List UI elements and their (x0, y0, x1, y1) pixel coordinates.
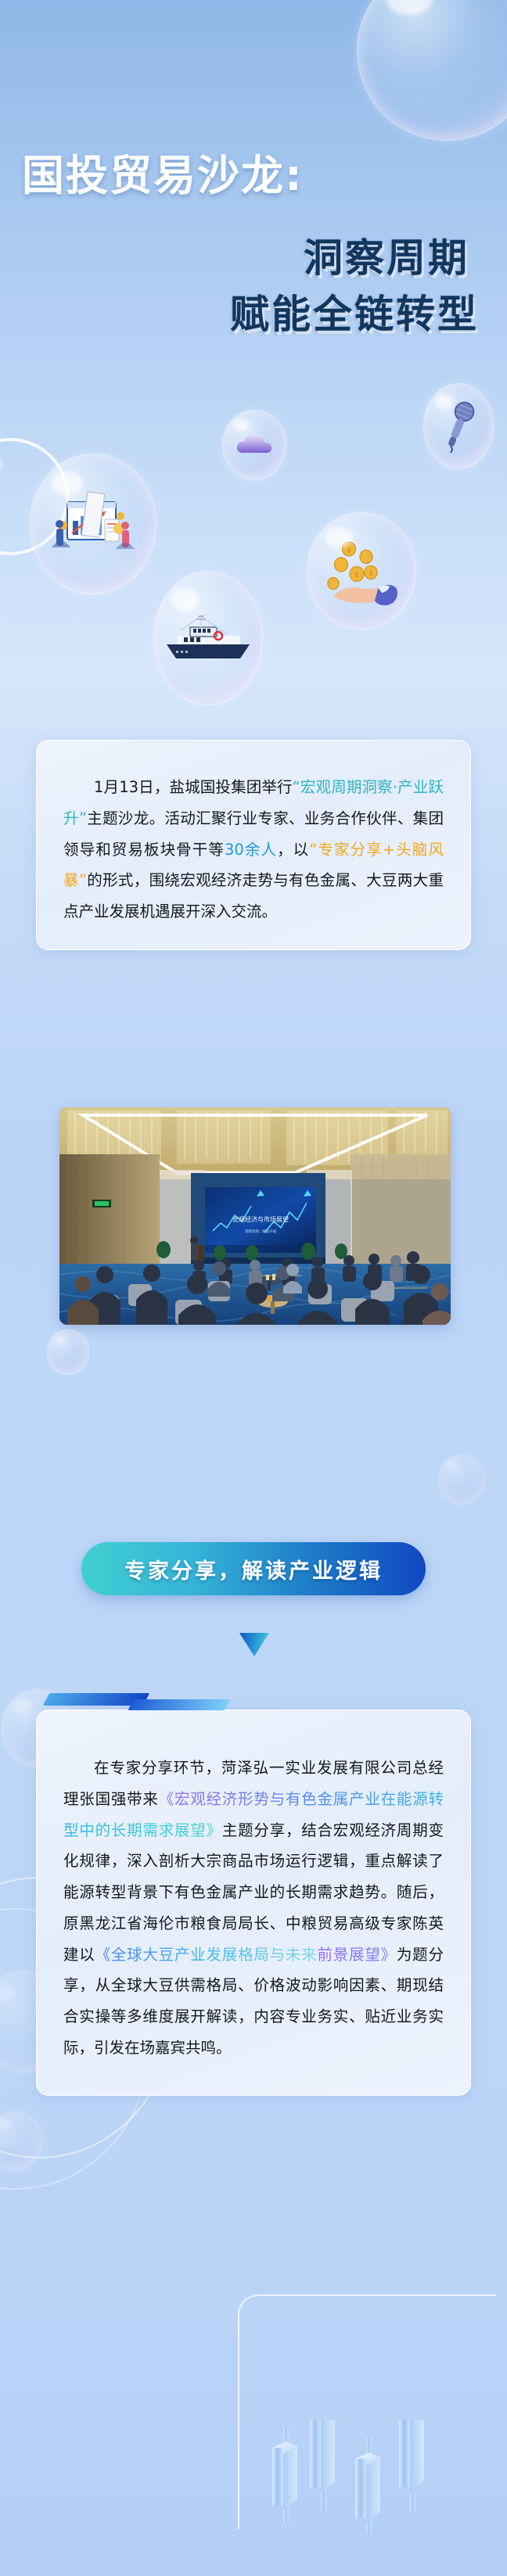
intro-seg-4: ，以 (277, 841, 309, 859)
svg-text:$: $ (369, 570, 373, 578)
poster-page: 国投贸易沙龙: 洞察周期 赋能全链转型 (0, 0, 507, 2576)
section-banner: 专家分享，解读产业逻辑 (81, 1542, 426, 1595)
intro-card: 1月13日，盐城国投集团举行“宏观周期洞察·产业跃升”主题沙龙。活动汇聚行业专家… (36, 740, 471, 950)
intro-paragraph: 1月13日，盐城国投集团举行“宏观周期洞察·产业跃升”主题沙龙。活动汇聚行业专家… (63, 772, 444, 927)
poster-title-line2: 洞察周期 (304, 227, 469, 283)
svg-text:$: $ (354, 572, 359, 579)
event-photo-image: 宏观经济与市场展望 洞察周期，赋能升级 (59, 1107, 451, 1325)
cargo-ship-bubble (153, 571, 263, 705)
intro-seg-0: 1月13日，盐城国投集团举行 (94, 778, 293, 796)
detail-paragraph: 在专家分享环节，菏泽弘一实业发展有限公司总经理张国强带来《宏观经济形势与有色金属… (63, 1753, 444, 2064)
event-photo: 宏观经济与市场展望 洞察周期，赋能升级 (59, 1107, 451, 1325)
data-analytics-illustration-bubble (30, 454, 156, 594)
candlestick-chart-decoration (263, 2420, 507, 2576)
candlestick-chart-3d-icon (263, 2420, 507, 2576)
detail-seg-2: 主题分享，结合宏观经济周期变化规律，深入剖析大宗商品市场运行逻辑，重点解读了能源… (63, 1821, 444, 1964)
soap-bubble-small-icon (47, 1329, 89, 1375)
detail-seg-4: 前景展望》 (317, 1946, 396, 1964)
hand-with-coins-3d-icon: $$$ (307, 513, 415, 629)
cargo-ship-icon (154, 572, 262, 705)
detail-card: 在专家分享环节，菏泽弘一实业发展有限公司总经理张国强带来《宏观经济形势与有色金属… (36, 1710, 471, 2096)
hand-with-coins-bubble: $$$ (307, 512, 416, 630)
ribbon-stripe-2 (128, 1699, 230, 1710)
ribbon-decoration (46, 1693, 226, 1712)
section-banner-label: 专家分享，解读产业逻辑 (124, 1554, 383, 1584)
data-analytics-illustration-icon (31, 454, 156, 594)
detail-seg-3: 《全球大豆产业发展格局与未来 (95, 1946, 318, 1964)
intro-seg-6: 的形式，围绕宏观经济走势与有色金属、大豆两大重点产业发展机遇展开深入交流。 (63, 871, 444, 920)
soap-bubble-small-icon (438, 1455, 485, 1505)
poster-title-line3: 赋能全链转型 (230, 283, 479, 339)
cloud-bubble (222, 410, 286, 480)
svg-text:$: $ (347, 547, 351, 554)
intro-seg-3: 30余人 (225, 841, 277, 859)
soap-bubble-large-icon (357, 0, 507, 141)
poster-title-line1: 国投贸易沙龙: (22, 141, 304, 203)
down-triangle-icon (239, 1633, 269, 1656)
microphone-3d-icon (424, 384, 493, 468)
cloud-3d-icon (223, 411, 286, 479)
microphone-bubble (423, 383, 494, 469)
